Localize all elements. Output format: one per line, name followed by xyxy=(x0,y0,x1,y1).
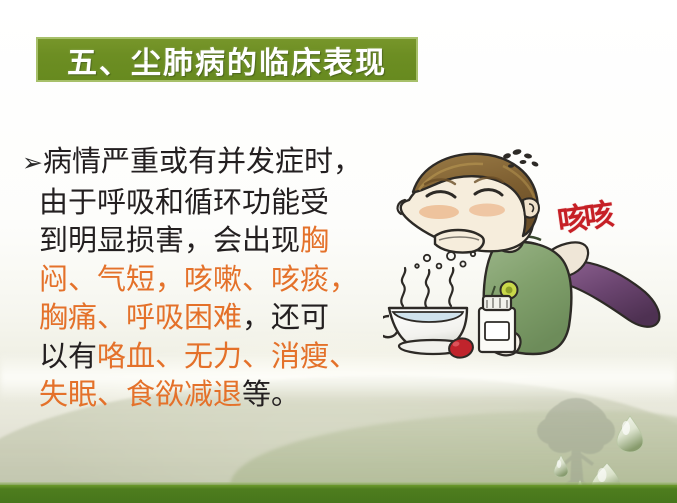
body-text-line: 胸痛、呼吸困难，还可 xyxy=(22,298,382,337)
body-text-line: 由于呼吸和循环功能受 xyxy=(22,183,382,222)
body-plain-text: 等。 xyxy=(242,377,300,411)
water-droplet-small-icon xyxy=(552,454,570,478)
body-plain-text: 以有 xyxy=(39,339,97,373)
body-text-line: 到明显损害，会出现胸 xyxy=(22,221,382,260)
body-plain-text: 病情严重或有并发症时， xyxy=(43,144,362,178)
body-plain-text: 由于呼吸和循环功能受 xyxy=(39,185,329,219)
body-plain-text: ，还可 xyxy=(242,300,329,334)
title-banner: 五、尘肺病的临床表现 xyxy=(36,37,418,82)
body-text-line: 失眠、食欲减退等。 xyxy=(22,375,382,414)
bullet-arrow-icon: ➢ xyxy=(22,148,43,177)
body-text-line: 闷、气短，咳嗽、咳痰， xyxy=(22,260,382,299)
body-text-line: 以有咯血、无力、消瘦、 xyxy=(22,337,382,376)
symptom-highlight-text: 胸痛、呼吸困难 xyxy=(39,300,242,334)
body-text-lines: ➢病情严重或有并发症时，由于呼吸和循环功能受到明显损害，会出现胸闷、气短，咳嗽、… xyxy=(22,142,382,414)
symptom-highlight-text: 闷、气短，咳嗽、咳痰， xyxy=(39,262,358,296)
cough-sound-text: 咳咳 xyxy=(554,189,614,240)
symptom-highlight-text: 失眠、食欲减退 xyxy=(39,377,242,411)
body-plain-text: 到明显损害，会出现 xyxy=(39,223,300,257)
body-text-block: ➢病情严重或有并发症时，由于呼吸和循环功能受到明显损害，会出现胸闷、气短，咳嗽、… xyxy=(22,142,382,414)
coughing-man-illustration xyxy=(383,140,673,362)
symptom-highlight-text: 咯血、无力、消瘦、 xyxy=(97,339,358,373)
symptom-highlight-text: 胸 xyxy=(300,223,329,257)
page-title: 五、尘肺病的临床表现 xyxy=(67,38,387,82)
water-droplet-large-icon xyxy=(614,414,646,454)
body-text-line: ➢病情严重或有并发症时， xyxy=(22,142,382,183)
slide-canvas: 五、尘肺病的临床表现 ➢病情严重或有并发症时，由于呼吸和循环功能受到明显损害，会… xyxy=(0,0,677,503)
bottom-green-strip xyxy=(0,485,677,503)
